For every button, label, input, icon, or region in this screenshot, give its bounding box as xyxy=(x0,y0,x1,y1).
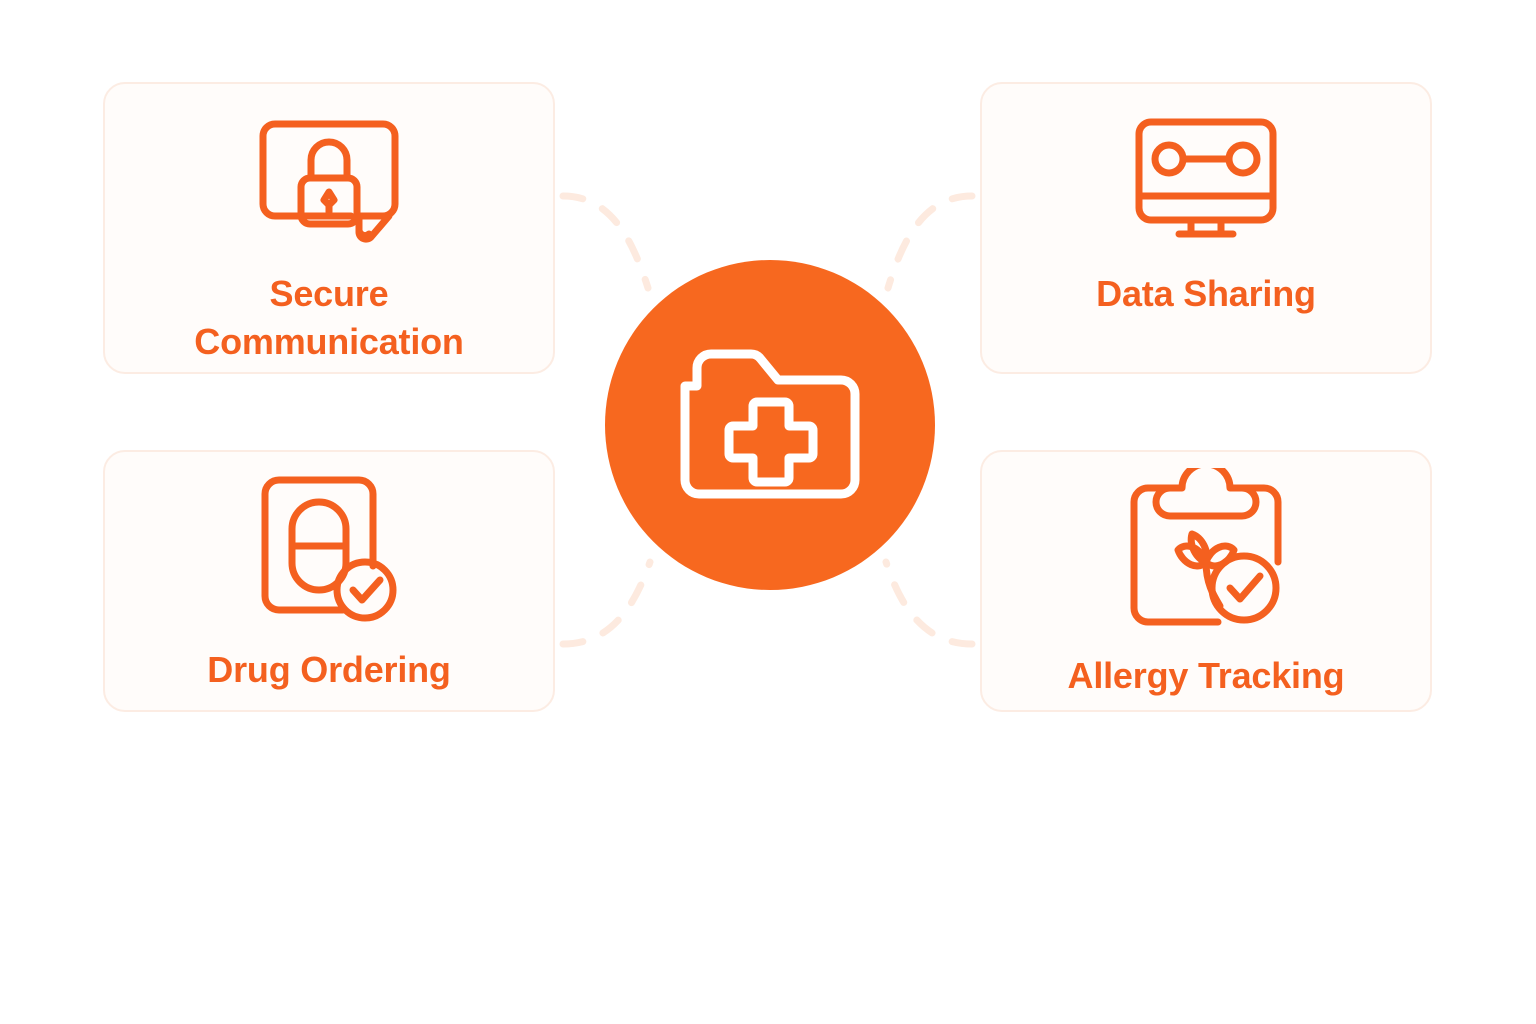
connector-bottom-left xyxy=(563,562,650,644)
feature-card-label: Data Sharing xyxy=(982,270,1430,318)
feature-card-label: Drug Ordering xyxy=(105,646,553,694)
hub-circle[interactable] xyxy=(605,260,935,590)
connector-top-left xyxy=(563,196,648,288)
feature-card-allergy-tracking[interactable]: Allergy Tracking xyxy=(980,450,1432,712)
feature-card-drug-ordering[interactable]: Drug Ordering xyxy=(103,450,555,712)
monitor-network-icon xyxy=(1131,116,1281,240)
connector-top-right xyxy=(888,196,972,288)
feature-card-secure-communication[interactable]: SecureCommunication xyxy=(103,82,555,374)
pill-document-check-icon xyxy=(259,474,399,624)
feature-card-label-line1: Secure xyxy=(270,273,389,314)
feature-card-data-sharing[interactable]: Data Sharing xyxy=(980,82,1432,374)
feature-card-label: SecureCommunication xyxy=(105,270,553,365)
feature-hub-diagram: SecureCommunication Data Sharing xyxy=(0,0,1536,1024)
clipboard-pollen-check-icon xyxy=(1126,468,1286,636)
feature-card-label-line2: Communication xyxy=(194,321,463,362)
connector-bottom-right xyxy=(886,562,972,644)
medical-folder-icon xyxy=(675,346,865,504)
secure-chat-lock-icon xyxy=(255,116,403,244)
feature-card-label: Allergy Tracking xyxy=(982,652,1430,700)
